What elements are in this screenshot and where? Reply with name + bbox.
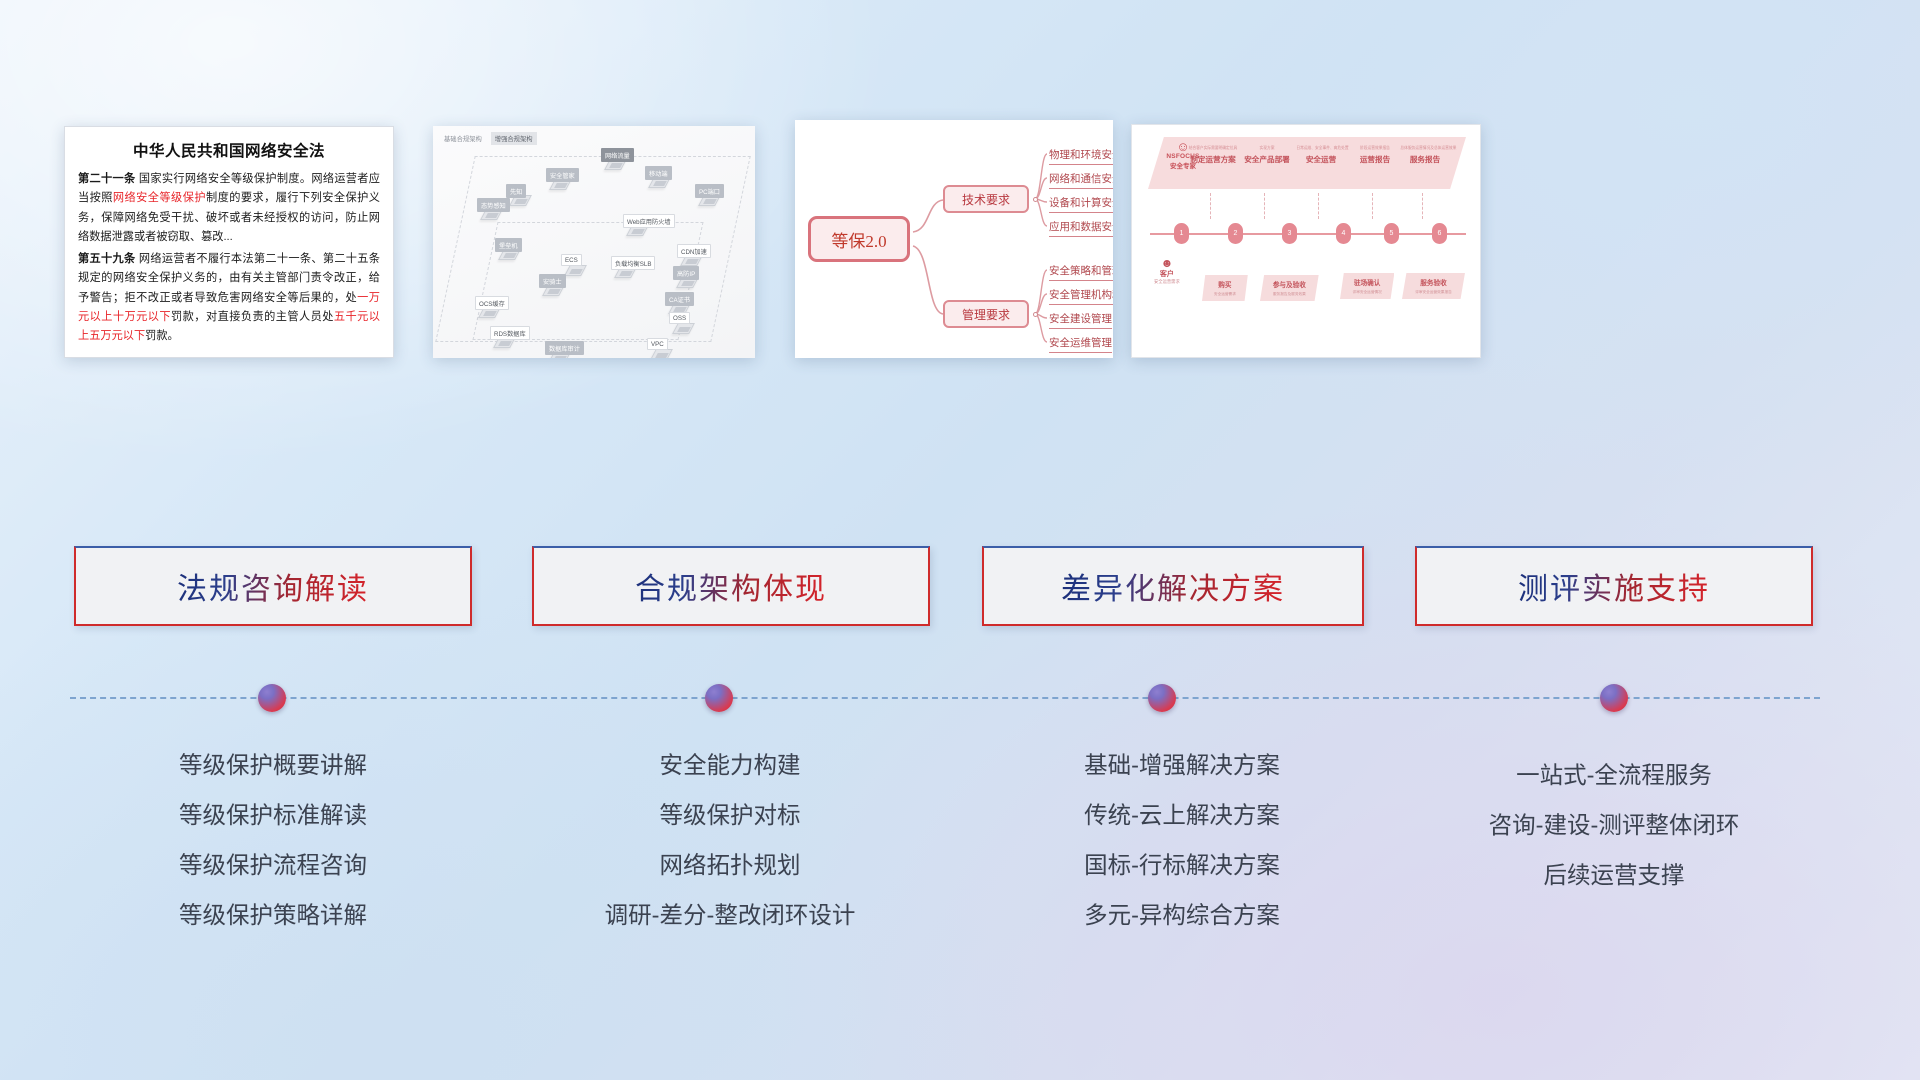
nsfocus-step-sub: 总体服务运营情况及总体运营效果 <box>1400 145 1449 150</box>
architecture-node[interactable]: 负载均衡SLB <box>611 256 655 270</box>
headline-box-2[interactable]: 合规架构体现 <box>532 546 930 626</box>
card-law-document: 中华人民共和国网络安全法 第二十一条 国家实行网络安全等级保护制度。网络运营者应… <box>64 126 394 358</box>
list-item: 咨询-建设-测评整体闭环 <box>1412 800 1816 850</box>
timeline-node-3[interactable] <box>1148 684 1176 712</box>
list-item: 国标-行标解决方案 <box>982 840 1382 890</box>
detail-column-2: 安全能力构建 等级保护对标 网络拓扑规划 调研-差分-整改闭环设计 <box>530 740 930 940</box>
customer-label: 客户 <box>1154 269 1180 279</box>
mindmap-branch-technical[interactable]: 技术要求 <box>943 185 1029 213</box>
detail-column-1: 等级保护概要讲解 等级保护标准解读 等级保护流程咨询 等级保护策略详解 <box>74 740 472 940</box>
nsfocus-step-title: 制定运营方案 <box>1184 154 1242 165</box>
mindmap-collapse-dot-technical[interactable] <box>1033 197 1038 202</box>
nsfocus-customer-tag[interactable]: 驻场确认评审安全运营情况 <box>1340 273 1394 299</box>
nsfocus-step-sub: 实现方案 <box>1242 145 1291 150</box>
architecture-node[interactable]: ECS <box>561 254 582 266</box>
tab-basic-compliance[interactable]: 基础合规架构 <box>440 132 486 145</box>
mindmap-branch-management[interactable]: 管理要求 <box>943 300 1029 328</box>
mindmap-canvas: 等保2.0 技术要求 管理要求 物理和环境安全网络和通信安全设备和计算安全应用和… <box>795 120 1113 358</box>
law-title: 中华人民共和国网络安全法 <box>78 139 380 161</box>
architecture-canvas: 基础合规架构 增强合规架构 网络流量安全管家先知态势感知堡垒机ECS安骑士OCS… <box>433 126 755 358</box>
nsfocus-customer: ☻ 客户 安全运营需求 <box>1154 257 1180 285</box>
nsfocus-step[interactable]: 总体服务运营情况及总体运营效果服务报告 <box>1396 145 1454 165</box>
architecture-node[interactable]: Web应用防火墙 <box>623 214 675 228</box>
architecture-node[interactable]: 先知 <box>506 184 526 198</box>
nsfocus-step[interactable]: 实现方案安全产品部署 <box>1238 145 1296 165</box>
nsfocus-step-connector <box>1318 193 1319 219</box>
card-mindmap: 等保2.0 技术要求 管理要求 物理和环境安全网络和通信安全设备和计算安全应用和… <box>795 120 1113 358</box>
list-item: 一站式-全流程服务 <box>1412 750 1816 800</box>
nsfocus-tag-title: 驻场确认 <box>1350 277 1384 287</box>
architecture-node-cube <box>650 349 673 358</box>
law-article-59-text-c: 罚款。 <box>145 330 179 342</box>
law-article-59-label: 第五十九条 <box>78 253 135 265</box>
nsfocus-step-sub: 结合客户实际需要明确定位具 <box>1188 145 1237 150</box>
nsfocus-step-connector <box>1422 193 1423 219</box>
headline-box-4[interactable]: 测评实施支持 <box>1415 546 1813 626</box>
list-item: 等级保护策略详解 <box>74 890 472 940</box>
slide-canvas: 中华人民共和国网络安全法 第二十一条 国家实行网络安全等级保护制度。网络运营者应… <box>0 0 1920 1080</box>
nsfocus-step-connector <box>1264 193 1265 219</box>
nsfocus-step-title: 安全运营 <box>1292 154 1350 165</box>
detail-column-3: 基础-增强解决方案 传统-云上解决方案 国标-行标解决方案 多元-异构综合方案 <box>982 740 1382 940</box>
headline-box-1[interactable]: 法规咨询解读 <box>74 546 472 626</box>
nsfocus-step-number[interactable]: 3 <box>1282 223 1297 244</box>
law-article-21-highlight: 网络安全等级保护 <box>113 192 206 204</box>
architecture-node[interactable]: 数据库审计 <box>545 341 584 355</box>
nsfocus-tag-sub: 服务报告及服务效果 <box>1273 291 1306 296</box>
mindmap-leaf[interactable]: 物理和环境安全 <box>1049 147 1113 165</box>
nsfocus-tag-title: 参与及验收 <box>1270 279 1309 289</box>
architecture-node[interactable]: 安骑士 <box>539 274 566 288</box>
nsfocus-canvas: ☺ NSFOCUS 安全专家 结合客户实际需要明确定位具制定运营方案实现方案安全… <box>1131 124 1481 358</box>
timeline-node-2[interactable] <box>705 684 733 712</box>
mindmap-leaf[interactable]: 安全运维管理 <box>1049 335 1112 353</box>
list-item: 后续运营支撑 <box>1412 850 1816 900</box>
law-body: 中华人民共和国网络安全法 第二十一条 国家实行网络安全等级保护制度。网络运营者应… <box>65 127 393 357</box>
mindmap-leaf[interactable]: 安全管理机构和人员 <box>1049 287 1113 305</box>
architecture-node[interactable]: 态势感知 <box>477 198 510 212</box>
mindmap-collapse-dot-management[interactable] <box>1033 312 1038 317</box>
nsfocus-customer-tag[interactable]: 购买安全运营需求 <box>1202 275 1248 301</box>
architecture-node[interactable]: VPC <box>647 338 668 350</box>
nsfocus-tag-title: 购买 <box>1212 279 1238 289</box>
nsfocus-step[interactable]: 日常运维、安全事件、高危处置安全运营 <box>1292 145 1350 165</box>
headline-label-4: 测评实施支持 <box>1518 564 1710 608</box>
mindmap-leaf[interactable]: 网络和通信安全 <box>1049 171 1113 189</box>
mindmap-leaf[interactable]: 安全策略和管理制度 <box>1049 263 1113 281</box>
customer-sub: 安全运营需求 <box>1154 279 1180 285</box>
architecture-node[interactable]: OCS缓存 <box>475 296 509 310</box>
nsfocus-step-number[interactable]: 4 <box>1336 223 1351 244</box>
nsfocus-tag-sub: 安全运营需求 <box>1214 291 1236 296</box>
nsfocus-customer-tag[interactable]: 服务验收评审安全运营效果报告 <box>1402 273 1465 299</box>
card-architecture-diagram: 基础合规架构 增强合规架构 网络流量安全管家先知态势感知堡垒机ECS安骑士OCS… <box>433 126 755 358</box>
nsfocus-step-connector <box>1372 193 1373 219</box>
architecture-node[interactable]: CA证书 <box>665 292 694 306</box>
nsfocus-axis-line <box>1150 233 1466 235</box>
timeline-node-1[interactable] <box>258 684 286 712</box>
list-item: 多元-异构综合方案 <box>982 890 1382 940</box>
architecture-node[interactable]: 堡垒机 <box>495 238 522 252</box>
list-item: 等级保护对标 <box>530 790 930 840</box>
list-item: 传统-云上解决方案 <box>982 790 1382 840</box>
architecture-node[interactable]: CDN加速 <box>677 244 711 258</box>
list-item: 等级保护概要讲解 <box>74 740 472 790</box>
architecture-node[interactable]: 网络流量 <box>601 148 634 162</box>
list-item: 等级保护标准解读 <box>74 790 472 840</box>
timeline-dashed-line <box>70 697 1820 699</box>
architecture-node[interactable]: 安全管家 <box>546 168 579 182</box>
mindmap-leaf[interactable]: 应用和数据安全 <box>1049 219 1113 237</box>
architecture-node[interactable]: 移动端 <box>645 166 672 180</box>
law-article-21-label: 第二十一条 <box>78 173 135 185</box>
list-item: 基础-增强解决方案 <box>982 740 1382 790</box>
headline-label-2: 合规架构体现 <box>635 564 827 608</box>
mindmap-leaf[interactable]: 安全建设管理 <box>1049 311 1112 329</box>
nsfocus-tag-title: 服务验收 <box>1412 277 1455 287</box>
headline-label-1: 法规咨询解读 <box>177 564 369 608</box>
detail-column-4: 一站式-全流程服务 咨询-建设-测评整体闭环 后续运营支撑 <box>1412 750 1816 900</box>
nsfocus-step-sub: 日常运维、安全事件、高危处置 <box>1296 145 1345 150</box>
headline-label-3: 差异化解决方案 <box>1061 564 1285 608</box>
law-article-59-text-b: 罚款，对直接负责的主管人员处 <box>171 311 334 323</box>
list-item: 网络拓扑规划 <box>530 840 930 890</box>
nsfocus-customer-tag[interactable]: 参与及验收服务报告及服务效果 <box>1260 275 1319 301</box>
nsfocus-step-title: 安全产品部署 <box>1238 154 1296 165</box>
headline-box-3[interactable]: 差异化解决方案 <box>982 546 1364 626</box>
architecture-node[interactable]: RDS数据库 <box>490 326 530 340</box>
architecture-node[interactable]: 高防IP <box>673 266 699 280</box>
nsfocus-step-number[interactable]: 5 <box>1384 223 1399 244</box>
list-item: 安全能力构建 <box>530 740 930 790</box>
customer-person-icon: ☻ <box>1154 257 1180 269</box>
tab-enhanced-compliance[interactable]: 增强合规架构 <box>491 132 537 145</box>
nsfocus-step-number[interactable]: 2 <box>1228 223 1243 244</box>
card-nsfocus-service-timeline: ☺ NSFOCUS 安全专家 结合客户实际需要明确定位具制定运营方案实现方案安全… <box>1131 124 1481 358</box>
nsfocus-tag-sub: 评审安全运营效果报告 <box>1415 289 1452 294</box>
mindmap-leaf[interactable]: 设备和计算安全 <box>1049 195 1113 213</box>
nsfocus-step-number[interactable]: 6 <box>1432 223 1447 244</box>
timeline-node-4[interactable] <box>1600 684 1628 712</box>
law-article-21: 第二十一条 国家实行网络安全等级保护制度。网络运营者应当按照网络安全等级保护制度… <box>78 170 380 247</box>
architecture-node[interactable]: OSS <box>669 312 690 324</box>
list-item: 等级保护流程咨询 <box>74 840 472 890</box>
nsfocus-step-connector <box>1210 193 1211 219</box>
architecture-node[interactable]: PC端口 <box>695 184 724 198</box>
nsfocus-step-title: 服务报告 <box>1396 154 1454 165</box>
nsfocus-step[interactable]: 结合客户实际需要明确定位具制定运营方案 <box>1184 145 1242 165</box>
mindmap-root-node[interactable]: 等保2.0 <box>808 216 910 262</box>
nsfocus-tag-sub: 评审安全运营情况 <box>1353 289 1382 294</box>
nsfocus-step-number[interactable]: 1 <box>1174 223 1189 244</box>
law-article-59: 第五十九条 网络运营者不履行本法第二十一条、第二十五条规定的网络安全保护义务的，… <box>78 250 380 346</box>
nsfocus-step-sub: 阶段运营效果报告 <box>1350 145 1399 150</box>
architecture-tabs: 基础合规架构 增强合规架构 <box>440 132 537 145</box>
list-item: 调研-差分-整改闭环设计 <box>530 890 930 940</box>
